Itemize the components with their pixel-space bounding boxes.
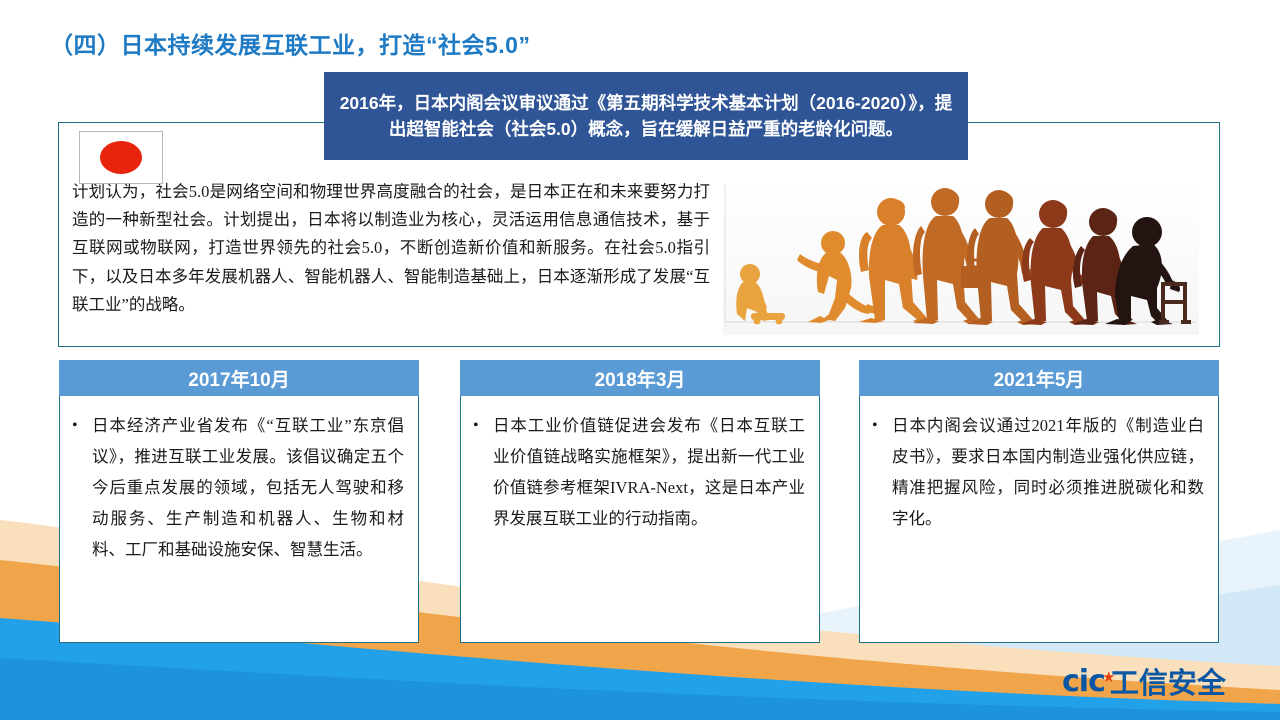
card-1-bullet: • xyxy=(72,410,92,632)
slide-root: （四）日本持续发展互联工业，打造“社会5.0” 2016年，日本内阁会议审议通过… xyxy=(0,0,1280,720)
card-2-body: • 日本工业价值链促进会发布《日本互联工业价值链战略实施框架》，提出新一代工业价… xyxy=(460,396,820,643)
highlight-banner: 2016年，日本内阁会议审议通过《第五期科学技术基本计划（2016-2020）》… xyxy=(324,72,968,160)
page-title: （四）日本持续发展互联工业，打造“社会5.0” xyxy=(50,26,530,60)
card-1-text: 日本经济产业省发布《“互联工业”东京倡议》，推进互联工业发展。该倡议确定五个今后… xyxy=(92,410,404,632)
brand-logo: cic ★ 工信安全 xyxy=(1062,660,1226,702)
main-paragraph: 计划认为，社会5.0是网络空间和物理世界高度融合的社会，是日本正在和未来要努力打… xyxy=(72,178,710,319)
card-1-header: 2017年10月 xyxy=(59,360,419,396)
card-2-bullet: • xyxy=(473,410,493,632)
aging-progression-illustration xyxy=(723,180,1199,335)
star-icon: ★ xyxy=(1102,670,1115,685)
card-2-header: 2018年3月 xyxy=(460,360,820,396)
card-2-text: 日本工业价值链促进会发布《日本互联工业价值链战略实施框架》，提出新一代工业价值链… xyxy=(493,410,805,632)
card-3-header: 2021年5月 xyxy=(859,360,1219,396)
timeline-card-3: 2021年5月 • 日本内阁会议通过2021年版的《制造业白皮书》，要求日本国内… xyxy=(859,360,1219,643)
card-3-body: • 日本内阁会议通过2021年版的《制造业白皮书》，要求日本国内制造业强化供应链… xyxy=(859,396,1219,643)
flag-red-disc xyxy=(100,141,142,174)
logo-company-name: 工信安全 xyxy=(1110,660,1226,702)
card-3-text: 日本内阁会议通过2021年版的《制造业白皮书》，要求日本国内制造业强化供应链，精… xyxy=(892,410,1204,632)
timeline-card-1: 2017年10月 • 日本经济产业省发布《“互联工业”东京倡议》，推进互联工业发… xyxy=(59,360,419,643)
logo-cic-mark: cic ★ xyxy=(1062,664,1105,699)
card-1-body: • 日本经济产业省发布《“互联工业”东京倡议》，推进互联工业发展。该倡议确定五个… xyxy=(59,396,419,643)
timeline-card-2: 2018年3月 • 日本工业价值链促进会发布《日本互联工业价值链战略实施框架》，… xyxy=(460,360,820,643)
highlight-banner-text: 2016年，日本内阁会议审议通过《第五期科学技术基本计划（2016-2020）》… xyxy=(334,90,958,142)
japan-flag-icon xyxy=(79,131,163,184)
card-3-bullet: • xyxy=(872,410,892,632)
logo-cic-text: cic xyxy=(1062,664,1105,699)
